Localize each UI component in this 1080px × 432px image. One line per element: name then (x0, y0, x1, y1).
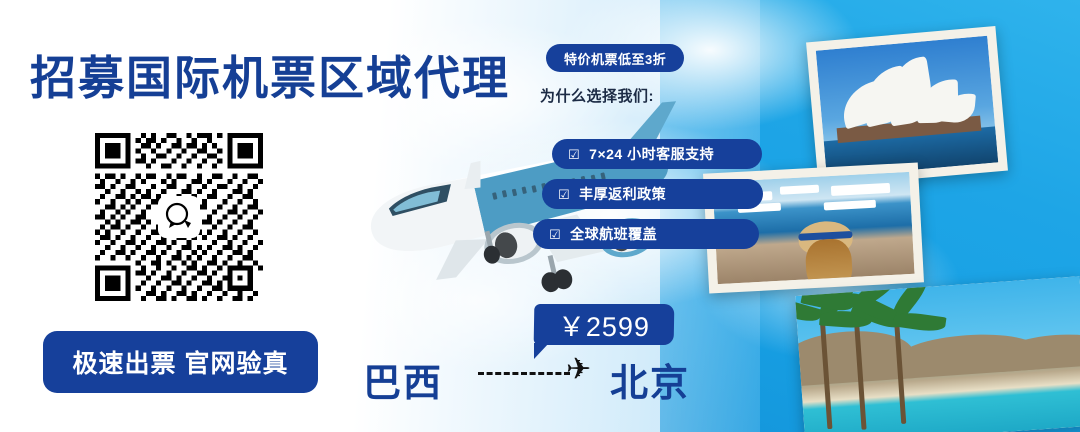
promo-banner: 招募国际机票区域代理 (0, 0, 1080, 432)
discount-badge: 特价机票低至3折 (546, 44, 684, 72)
feature-pill-coverage[interactable]: ☑ 全球航班覆盖 (533, 219, 759, 249)
feature-pill-support[interactable]: ☑ 7×24 小时客服支持 (552, 139, 762, 169)
price-bubble-tail (534, 343, 549, 359)
route-dashed-line (478, 372, 570, 375)
route-origin: 巴西 (363, 352, 443, 407)
feature-label: 丰厚返利政策 (579, 184, 666, 204)
cta-button[interactable]: 极速出票 官网验真 (43, 331, 318, 393)
feature-label: 7×24 小时客服支持 (589, 144, 714, 164)
page-title: 招募国际机票区域代理 (30, 42, 510, 108)
airplane-icon: ✈ (566, 355, 591, 385)
chat-bubble-icon (158, 196, 200, 238)
checkbox-icon: ☑ (558, 188, 570, 201)
feature-pill-rebate[interactable]: ☑ 丰厚返利政策 (542, 179, 763, 209)
checkbox-icon: ☑ (568, 148, 580, 161)
why-choose-us-label: 为什么选择我们: (540, 85, 654, 106)
checkbox-icon: ☑ (549, 228, 561, 241)
photo-tropical-beach (795, 276, 1080, 432)
price-badge: ￥2599 (534, 304, 675, 345)
route-destination: 北京 (610, 352, 690, 407)
feature-label: 全球航班覆盖 (570, 224, 657, 244)
qr-code[interactable] (95, 133, 263, 301)
